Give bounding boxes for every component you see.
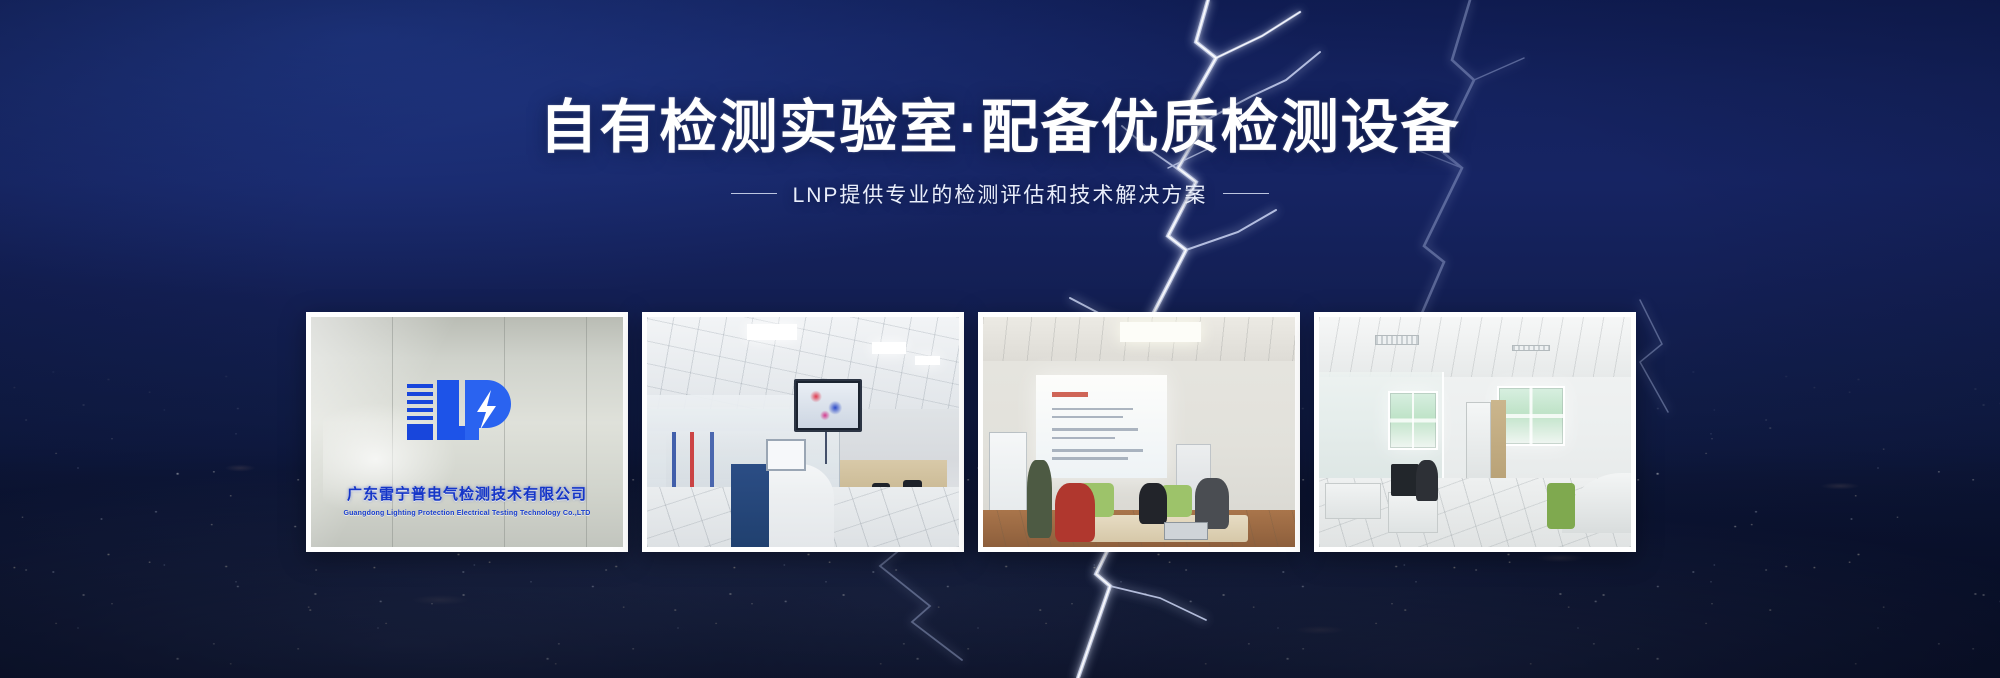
attendee-figure [1139, 483, 1167, 524]
gallery-item-office[interactable] [1314, 312, 1636, 552]
gallery-item-training[interactable] [978, 312, 1300, 552]
hero-subtitle-row: LNP提供专业的检测评估和技术解决方案 [0, 179, 2000, 209]
signage-en-name: Guangdong Lighting Protection Electrical… [343, 510, 590, 517]
photo-office-area [1319, 317, 1631, 547]
rule-right-icon [1223, 193, 1269, 194]
wall-display [794, 379, 863, 432]
hero-banner: 自有检测实验室·配备优质检测设备 LNP提供专业的检测评估和技术解决方案 [0, 0, 2000, 678]
worker-figure [1416, 460, 1438, 501]
page-title: 自有检测实验室·配备优质检测设备 [0, 96, 2000, 161]
hero-copy: 自有检测实验室·配备优质检测设备 LNP提供专业的检测评估和技术解决方案 [0, 96, 2000, 209]
gallery-item-signage[interactable]: 广东雷宁普电气检测技术有限公司 Guangdong Lighting Prote… [306, 312, 628, 552]
lnp-logo-icon [403, 374, 531, 444]
signage-cn-name: 广东雷宁普电气检测技术有限公司 [347, 483, 587, 504]
presenter-figure [1027, 460, 1052, 538]
projection-screen [1036, 375, 1167, 479]
hero-subtitle: LNP提供专业的检测评估和技术解决方案 [793, 179, 1208, 209]
photo-company-signage: 广东雷宁普电气检测技术有限公司 Guangdong Lighting Prote… [311, 317, 623, 547]
attendee-figure [1055, 483, 1096, 543]
photo-gallery: 广东雷宁普电气检测技术有限公司 Guangdong Lighting Prote… [306, 312, 1636, 552]
gallery-item-laboratory[interactable] [642, 312, 964, 552]
rule-left-icon [731, 193, 777, 194]
photo-training-room [983, 317, 1295, 547]
photo-high-voltage-lab [647, 317, 959, 547]
